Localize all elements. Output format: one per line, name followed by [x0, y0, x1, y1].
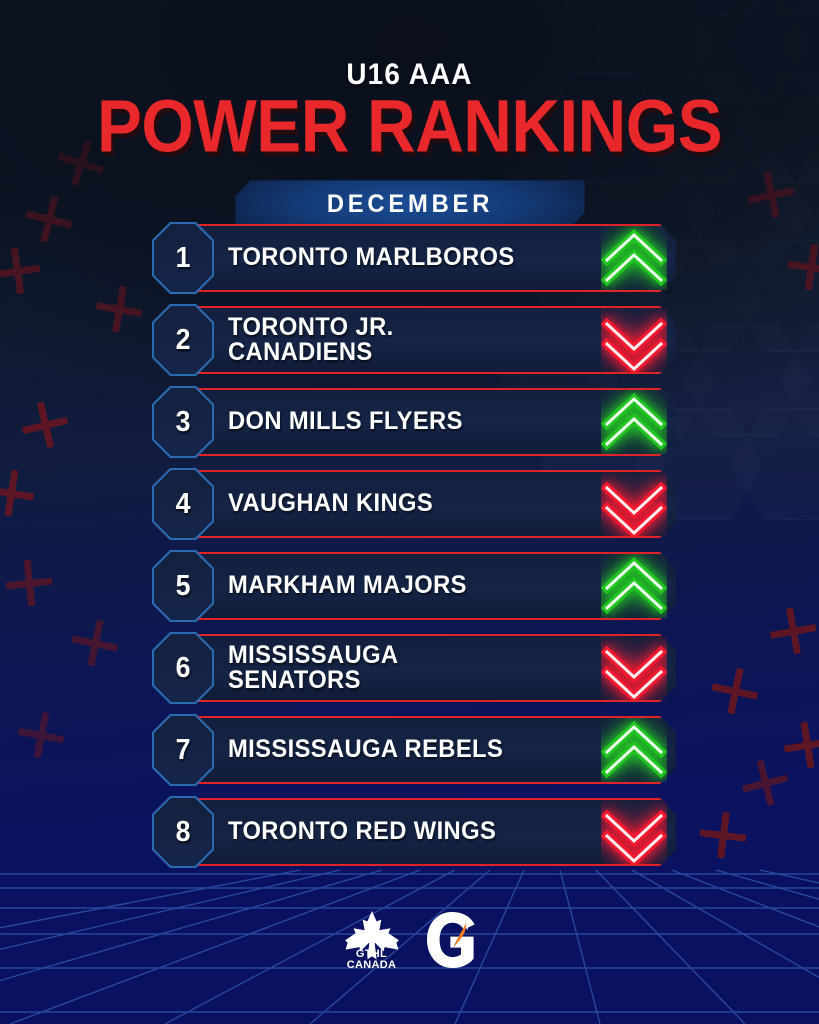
gthl-wordmark: GTHL CANADA	[347, 949, 396, 971]
rankings-list: 1 TORONTO MARLBOROS 2 TORONTO JR. CANADI…	[0, 224, 819, 880]
team-name-wrap: VAUGHAN KINGS	[228, 470, 569, 538]
rank-badge: 5	[152, 550, 214, 622]
month-banner: DECEMBER	[235, 180, 585, 228]
team-name-wrap: MARKHAM MAJORS	[228, 552, 569, 620]
team-name: TORONTO JR. CANADIENS	[228, 315, 394, 366]
double-chevron-down-icon	[601, 472, 667, 536]
team-name: VAUGHAN KINGS	[228, 491, 433, 517]
rank-number: 3	[176, 406, 191, 439]
team-name-wrap: TORONTO RED WINGS	[228, 798, 569, 866]
ranking-row[interactable]: 1 TORONTO MARLBOROS	[0, 224, 819, 306]
double-chevron-down-icon	[601, 636, 667, 700]
double-chevron-up-icon	[601, 390, 667, 454]
ranking-row[interactable]: 2 TORONTO JR. CANADIENS	[0, 306, 819, 388]
double-chevron-up-icon	[601, 226, 667, 290]
double-chevron-down-icon	[601, 308, 667, 372]
team-name: MISSISSAUGA REBELS	[228, 737, 503, 763]
rank-number: 2	[176, 324, 191, 357]
rank-number: 5	[176, 570, 191, 603]
ranking-row[interactable]: 8 TORONTO RED WINGS	[0, 798, 819, 880]
team-name-wrap: TORONTO JR. CANADIENS	[228, 306, 569, 374]
page-title: POWER RANKINGS	[0, 91, 819, 162]
rank-number: 6	[176, 652, 191, 685]
team-name-wrap: MISSISSAUGA REBELS	[228, 716, 569, 784]
gatorade-g-icon	[425, 911, 479, 969]
team-name: DON MILLS FLYERS	[228, 409, 463, 435]
gthl-line-2: CANADA	[347, 960, 396, 971]
rank-badge: 4	[152, 468, 214, 540]
header: U16 AAA POWER RANKINGS DECEMBER	[0, 0, 819, 228]
rank-number: 1	[176, 242, 191, 275]
rank-number: 8	[176, 816, 191, 849]
double-chevron-up-icon	[601, 554, 667, 618]
ranking-row[interactable]: 3 DON MILLS FLYERS	[0, 388, 819, 470]
rank-badge: 8	[152, 796, 214, 868]
rank-badge: 2	[152, 304, 214, 376]
team-name-wrap: DON MILLS FLYERS	[228, 388, 569, 456]
team-name: MISSISSAUGA SENATORS	[228, 643, 398, 694]
rank-badge: 3	[152, 386, 214, 458]
ranking-row[interactable]: 6 MISSISSAUGA SENATORS	[0, 634, 819, 716]
team-name: TORONTO RED WINGS	[228, 819, 496, 845]
double-chevron-up-icon	[601, 718, 667, 782]
rank-number: 7	[176, 734, 191, 767]
ranking-row[interactable]: 7 MISSISSAUGA REBELS	[0, 716, 819, 798]
team-name: TORONTO MARLBOROS	[228, 245, 515, 271]
team-name-wrap: MISSISSAUGA SENATORS	[228, 634, 569, 702]
team-name: MARKHAM MAJORS	[228, 573, 467, 599]
footer-logos: GTHL CANADA	[0, 902, 819, 978]
double-chevron-down-icon	[601, 800, 667, 864]
rank-badge: 7	[152, 714, 214, 786]
team-name-wrap: TORONTO MARLBOROS	[228, 224, 569, 292]
rank-number: 4	[176, 488, 191, 521]
rank-badge: 6	[152, 632, 214, 704]
gthl-canada-logo: GTHL CANADA	[341, 909, 403, 971]
ranking-row[interactable]: 4 VAUGHAN KINGS	[0, 470, 819, 552]
ranking-row[interactable]: 5 MARKHAM MAJORS	[0, 552, 819, 634]
rank-badge: 1	[152, 222, 214, 294]
